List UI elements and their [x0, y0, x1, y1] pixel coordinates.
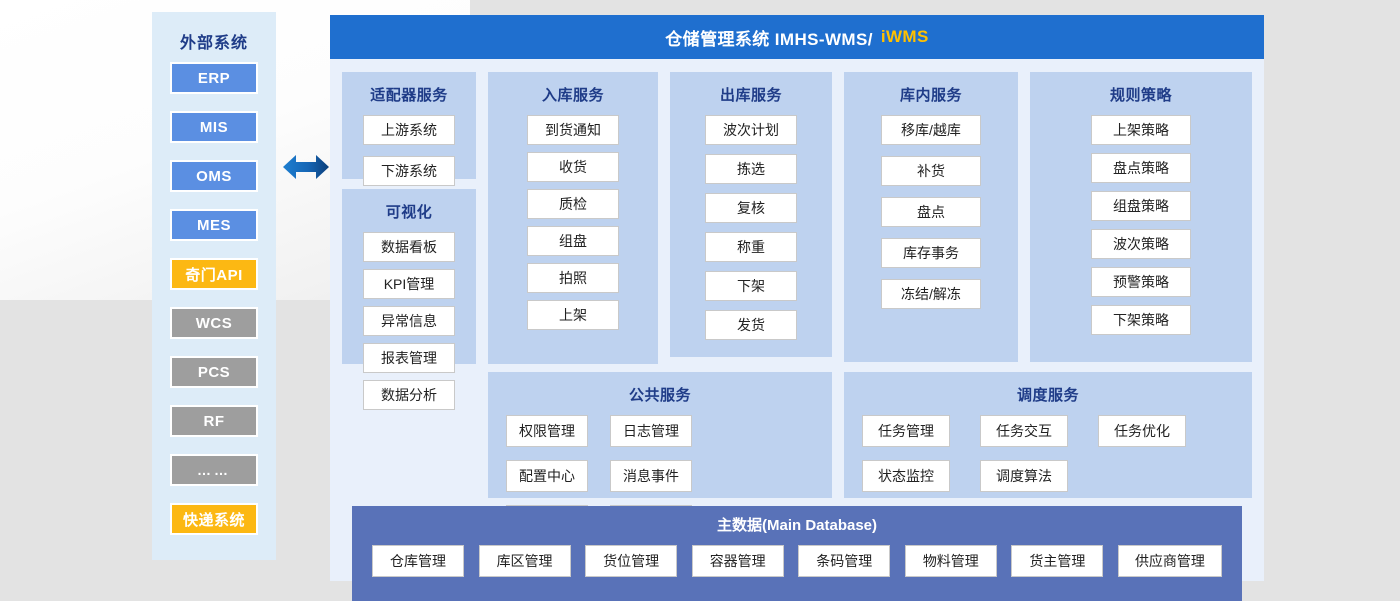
chip-task-management[interactable]: 任务管理 [862, 415, 950, 447]
chip-config-center[interactable]: 配置中心 [506, 460, 588, 492]
chip-replenishment[interactable]: 补货 [881, 156, 981, 186]
external-systems-title: 外部系统 [152, 12, 276, 53]
chip-exception-info[interactable]: 异常信息 [363, 306, 455, 336]
chip-recheck[interactable]: 复核 [705, 193, 797, 223]
chip-warehouse-management[interactable]: 仓库管理 [372, 545, 464, 577]
external-systems-list: ERP MIS OMS MES 奇门API WCS PCS RF …… 快递系统 [152, 62, 276, 535]
chip-arrival-notice[interactable]: 到货通知 [527, 115, 619, 145]
main-database-title: 主数据(Main Database) [352, 514, 1242, 535]
chip-message-event[interactable]: 消息事件 [610, 460, 692, 492]
chip-freeze-unfreeze[interactable]: 冻结/解冻 [881, 279, 981, 309]
chip-permission-management[interactable]: 权限管理 [506, 415, 588, 447]
chip-palletizing-strategy[interactable]: 组盘策略 [1091, 191, 1191, 221]
wms-header: 仓储管理系统 IMHS-WMS/ iWMS [330, 15, 1264, 59]
chip-task-optimization[interactable]: 任务优化 [1098, 415, 1186, 447]
chip-kpi-management[interactable]: KPI管理 [363, 269, 455, 299]
module-adapter-title: 适配器服务 [342, 84, 476, 105]
chip-shipping[interactable]: 发货 [705, 310, 797, 340]
chip-move-crossdock[interactable]: 移库/越库 [881, 115, 981, 145]
chip-palletizing[interactable]: 组盘 [527, 226, 619, 256]
module-outbound-service: 出库服务 波次计划 拣选 复核 称重 下架 发货 [670, 72, 832, 357]
chip-letdown-strategy[interactable]: 下架策略 [1091, 305, 1191, 335]
module-internal-service: 库内服务 移库/越库 补货 盘点 库存事务 冻结/解冻 [844, 72, 1018, 362]
chip-upstream-system[interactable]: 上游系统 [363, 115, 455, 145]
chip-picking[interactable]: 拣选 [705, 154, 797, 184]
chip-supplier-management[interactable]: 供应商管理 [1118, 545, 1222, 577]
chip-zone-management[interactable]: 库区管理 [479, 545, 571, 577]
chip-stocktaking-strategy[interactable]: 盘点策略 [1091, 153, 1191, 183]
module-common-service: 公共服务 权限管理 日志管理 配置中心 消息事件 监控管理 注册中心 [488, 372, 832, 498]
external-system-express[interactable]: 快递系统 [170, 503, 258, 535]
chip-owner-management[interactable]: 货主管理 [1011, 545, 1103, 577]
module-inbound-title: 入库服务 [488, 84, 658, 105]
module-common-title: 公共服务 [488, 384, 832, 405]
wms-body: 适配器服务 上游系统 下游系统 可视化 数据看板 KPI管理 异常信息 报表管理… [342, 72, 1252, 569]
chip-putaway-strategy[interactable]: 上架策略 [1091, 115, 1191, 145]
wms-container: 仓储管理系统 IMHS-WMS/ iWMS 适配器服务 上游系统 下游系统 可视… [330, 15, 1264, 581]
chip-letdown[interactable]: 下架 [705, 271, 797, 301]
module-outbound-title: 出库服务 [670, 84, 832, 105]
external-systems-panel: 外部系统 ERP MIS OMS MES 奇门API WCS PCS RF ……… [152, 12, 276, 560]
module-scheduling-title: 调度服务 [844, 384, 1252, 405]
chip-status-monitoring[interactable]: 状态监控 [862, 460, 950, 492]
scheduling-service-grid: 任务管理 任务交互 任务优化 状态监控 调度算法 [844, 415, 1252, 505]
chip-barcode-management[interactable]: 条码管理 [798, 545, 890, 577]
chip-log-management[interactable]: 日志管理 [610, 415, 692, 447]
chip-downstream-system[interactable]: 下游系统 [363, 156, 455, 186]
external-system-mes[interactable]: MES [170, 209, 258, 241]
module-rule-strategy: 规则策略 上架策略 盘点策略 组盘策略 波次策略 预警策略 下架策略 [1030, 72, 1252, 362]
wms-title: 仓储管理系统 IMHS-WMS/ [665, 25, 873, 50]
chip-alert-strategy[interactable]: 预警策略 [1091, 267, 1191, 297]
chip-putaway[interactable]: 上架 [527, 300, 619, 330]
external-system-qimen-api[interactable]: 奇门API [170, 258, 258, 290]
chip-container-management[interactable]: 容器管理 [692, 545, 784, 577]
chip-wave-plan[interactable]: 波次计划 [705, 115, 797, 145]
external-system-oms[interactable]: OMS [170, 160, 258, 192]
chip-weighing[interactable]: 称重 [705, 232, 797, 262]
chip-scheduling-algorithm[interactable]: 调度算法 [980, 460, 1068, 492]
chip-material-management[interactable]: 物料管理 [905, 545, 997, 577]
chip-report-management[interactable]: 报表管理 [363, 343, 455, 373]
module-main-database: 主数据(Main Database) 仓库管理 库区管理 货位管理 容器管理 条… [352, 506, 1242, 601]
chip-task-interaction[interactable]: 任务交互 [980, 415, 1068, 447]
chip-data-dashboard[interactable]: 数据看板 [363, 232, 455, 262]
module-internal-title: 库内服务 [844, 84, 1018, 105]
double-arrow-horizontal-icon [283, 150, 329, 184]
module-scheduling-service: 调度服务 任务管理 任务交互 任务优化 状态监控 调度算法 [844, 372, 1252, 498]
module-inbound-service: 入库服务 到货通知 收货 质检 组盘 拍照 上架 [488, 72, 658, 364]
chip-stocktaking[interactable]: 盘点 [881, 197, 981, 227]
external-system-mis[interactable]: MIS [170, 111, 258, 143]
external-system-wcs[interactable]: WCS [170, 307, 258, 339]
chip-location-management[interactable]: 货位管理 [585, 545, 677, 577]
service-columns: 适配器服务 上游系统 下游系统 可视化 数据看板 KPI管理 异常信息 报表管理… [342, 72, 1252, 364]
main-database-grid: 仓库管理 库区管理 货位管理 容器管理 条码管理 物料管理 货主管理 供应商管理 [352, 545, 1242, 577]
module-rule-title: 规则策略 [1030, 84, 1252, 105]
external-system-pcs[interactable]: PCS [170, 356, 258, 388]
chip-inventory-transaction[interactable]: 库存事务 [881, 238, 981, 268]
external-system-erp[interactable]: ERP [170, 62, 258, 94]
module-visualization: 可视化 数据看板 KPI管理 异常信息 报表管理 数据分析 [342, 189, 476, 364]
external-system-rf[interactable]: RF [170, 405, 258, 437]
column-adapter-visualization: 适配器服务 上游系统 下游系统 可视化 数据看板 KPI管理 异常信息 报表管理… [342, 72, 476, 179]
module-adapter-service: 适配器服务 上游系统 下游系统 [342, 72, 476, 179]
shared-service-row: 公共服务 权限管理 日志管理 配置中心 消息事件 监控管理 注册中心 调度服务 … [342, 372, 1252, 498]
wms-title-accent: iWMS [881, 27, 929, 47]
chip-receiving[interactable]: 收货 [527, 152, 619, 182]
chip-quality-check[interactable]: 质检 [527, 189, 619, 219]
module-visualization-title: 可视化 [342, 201, 476, 222]
chip-wave-strategy[interactable]: 波次策略 [1091, 229, 1191, 259]
chip-photograph[interactable]: 拍照 [527, 263, 619, 293]
external-system-more[interactable]: …… [170, 454, 258, 486]
